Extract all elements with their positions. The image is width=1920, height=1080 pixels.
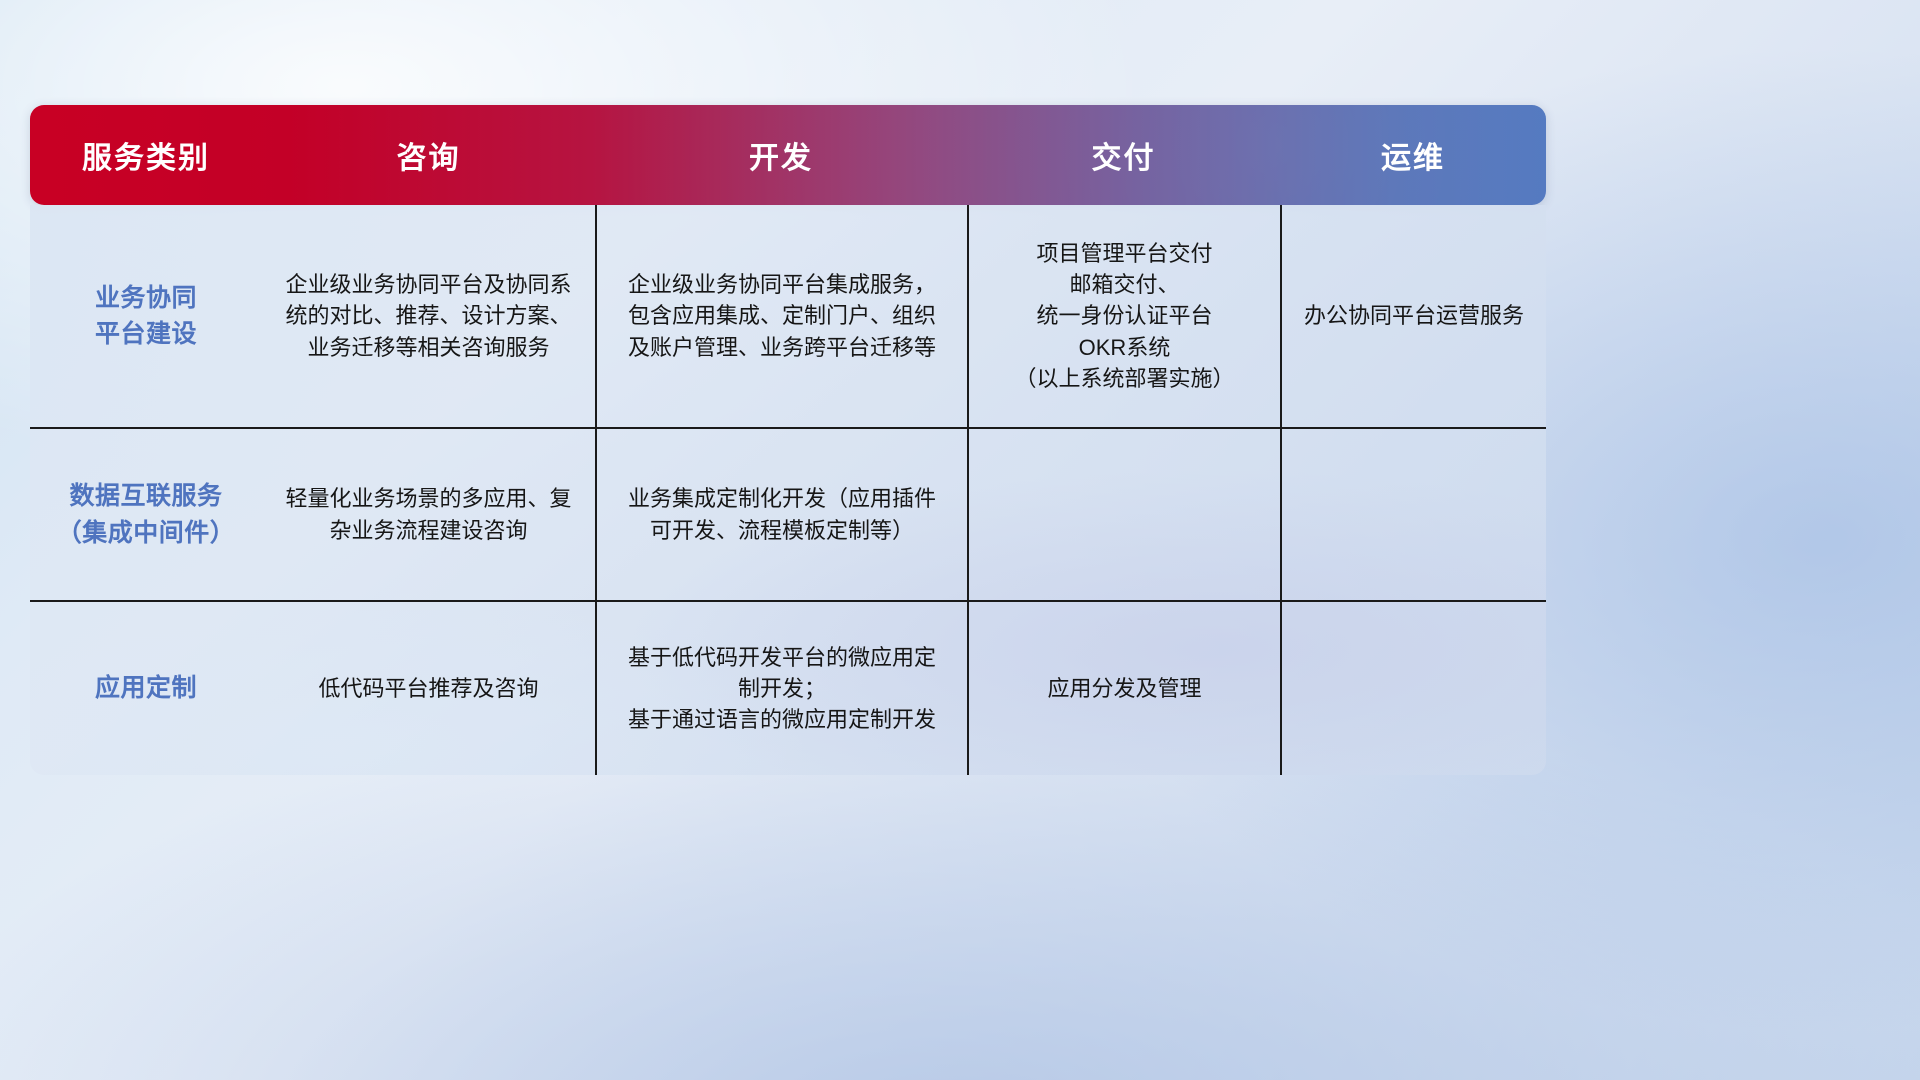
cell-consulting: 企业级业务协同平台及协同系 统的对比、推荐、设计方案、 业务迁移等相关咨询服务 — [262, 205, 595, 427]
cell-development: 企业级业务协同平台集成服务， 包含应用集成、定制门户、组织 及账户管理、业务跨平… — [595, 205, 967, 427]
cell-delivery: 项目管理平台交付 邮箱交付、 统一身份认证平台 OKR系统 （以上系统部署实施） — [967, 205, 1280, 427]
cell-text: 企业级业务协同平台集成服务， 包含应用集成、定制门户、组织 及账户管理、业务跨平… — [628, 269, 936, 363]
cell-consulting: 低代码平台推荐及咨询 — [262, 602, 595, 775]
row-label-text: 应用定制 — [95, 670, 197, 706]
cell-consulting: 轻量化业务场景的多应用、复 杂业务流程建设咨询 — [262, 429, 595, 600]
cell-text: 企业级业务协同平台及协同系 统的对比、推荐、设计方案、 业务迁移等相关咨询服务 — [285, 269, 571, 363]
cell-text: 项目管理平台交付 邮箱交付、 统一身份认证平台 OKR系统 （以上系统部署实施） — [1014, 238, 1234, 394]
column-header-category: 服务类别 — [30, 133, 262, 177]
row-label-text: 业务协同 平台建设 — [95, 280, 197, 353]
table-header-row: 服务类别 咨询 开发 交付 运维 — [30, 105, 1546, 205]
cell-development: 业务集成定制化开发（应用插件 可开发、流程模板定制等） — [595, 429, 967, 600]
cell-delivery: 应用分发及管理 — [967, 602, 1280, 775]
column-header-development: 开发 — [595, 133, 967, 177]
row-label-text: 数据互联服务 （集成中间件） — [57, 478, 236, 551]
cell-operations — [1280, 602, 1546, 775]
row-label-cell: 数据互联服务 （集成中间件） — [30, 429, 262, 600]
cell-delivery — [967, 429, 1280, 600]
table-row: 业务协同 平台建设 企业级业务协同平台及协同系 统的对比、推荐、设计方案、 业务… — [30, 205, 1546, 427]
table-row: 应用定制 低代码平台推荐及咨询 基于低代码开发平台的微应用定 制开发； 基于通过… — [30, 600, 1546, 775]
cell-operations: 办公协同平台运营服务 — [1280, 205, 1546, 427]
column-header-delivery: 交付 — [967, 133, 1280, 177]
cell-text: 低代码平台推荐及咨询 — [318, 673, 538, 704]
column-header-operations: 运维 — [1280, 133, 1546, 177]
cell-text: 办公协同平台运营服务 — [1304, 300, 1524, 331]
table-row: 数据互联服务 （集成中间件） 轻量化业务场景的多应用、复 杂业务流程建设咨询 业… — [30, 427, 1546, 600]
row-label-cell: 应用定制 — [30, 602, 262, 775]
cell-text: 业务集成定制化开发（应用插件 可开发、流程模板定制等） — [628, 483, 936, 545]
table-body: 业务协同 平台建设 企业级业务协同平台及协同系 统的对比、推荐、设计方案、 业务… — [30, 205, 1546, 775]
cell-text: 基于低代码开发平台的微应用定 制开发； 基于通过语言的微应用定制开发 — [628, 642, 936, 736]
column-header-consulting: 咨询 — [262, 133, 595, 177]
cell-development: 基于低代码开发平台的微应用定 制开发； 基于通过语言的微应用定制开发 — [595, 602, 967, 775]
cell-text: 应用分发及管理 — [1047, 673, 1201, 704]
service-matrix-table: 服务类别 咨询 开发 交付 运维 业务协同 平台建设 企业级业务协同平台及协同系… — [30, 105, 1546, 775]
cell-operations — [1280, 429, 1546, 600]
row-label-cell: 业务协同 平台建设 — [30, 205, 262, 427]
cell-text: 轻量化业务场景的多应用、复 杂业务流程建设咨询 — [285, 483, 571, 545]
